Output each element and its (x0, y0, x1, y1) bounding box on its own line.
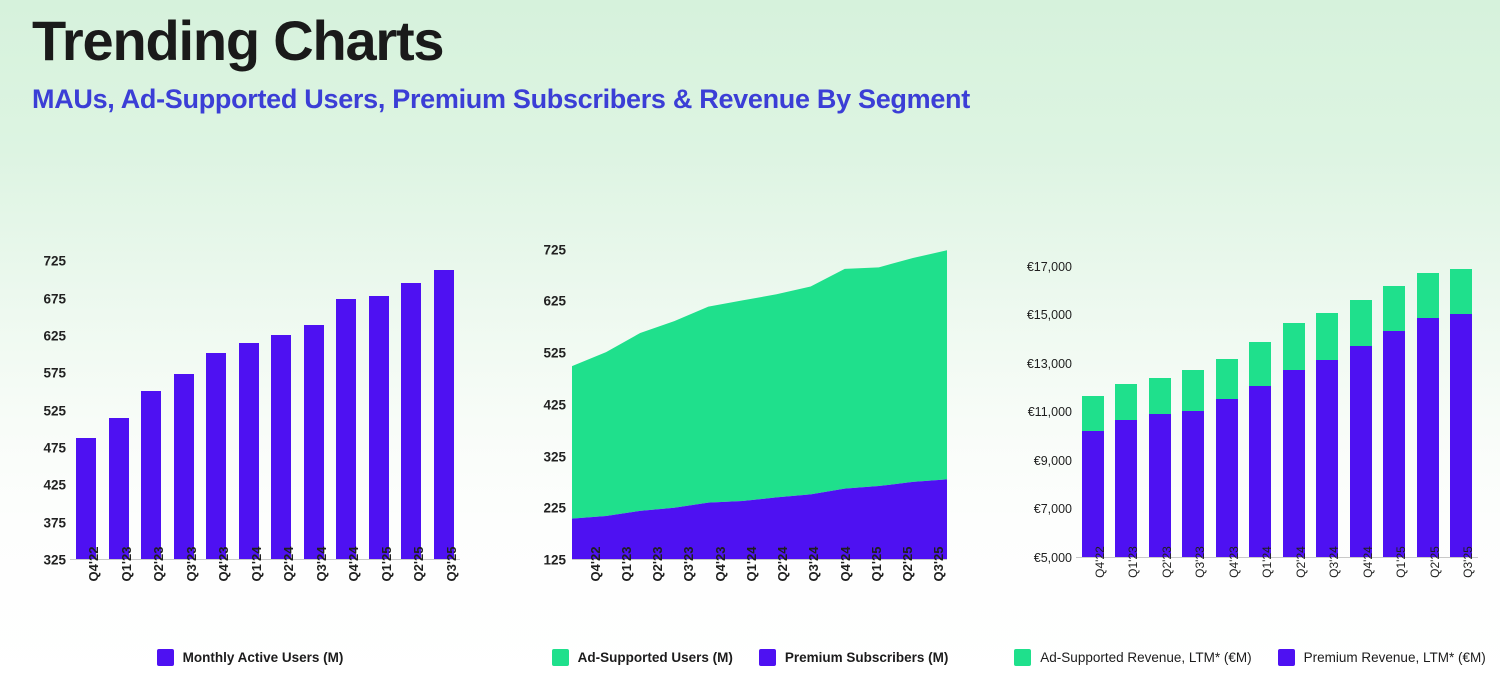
x-tick-slot: Q4'23 (200, 562, 233, 620)
x-tick-label: Q4'24 (1361, 546, 1375, 578)
bar-segment-premium[interactable] (1350, 346, 1372, 558)
x-tick-label: Q2'24 (1294, 546, 1308, 578)
bar-segment-premium[interactable] (1417, 318, 1439, 558)
y-tick-label: 325 (543, 449, 566, 464)
x-tick-label: Q3'25 (931, 547, 946, 582)
stacked-bar[interactable] (1417, 273, 1439, 558)
bar-segment-ad-supported[interactable] (1450, 269, 1472, 315)
page-subtitle: MAUs, Ad-Supported Users, Premium Subscr… (32, 83, 1500, 115)
bar-slot[interactable] (298, 250, 331, 560)
bar-segment-premium[interactable] (1450, 314, 1472, 558)
bar-slot[interactable] (330, 250, 363, 560)
x-tick-label: Q4'22 (86, 547, 101, 582)
y-tick-label: 675 (43, 291, 66, 306)
x-tick-label: Q2'23 (650, 547, 665, 582)
x-tick-label: Q1'25 (379, 547, 394, 582)
bar-segment-premium[interactable] (1249, 386, 1271, 558)
y-tick-label: €13,000 (1027, 357, 1072, 371)
stacked-bar[interactable] (1316, 313, 1338, 558)
bar-slot[interactable] (168, 250, 201, 560)
bar-slot[interactable] (200, 250, 233, 560)
legend-label: Premium Revenue, LTM* (€M) (1304, 650, 1486, 665)
bar-segment-premium[interactable] (1082, 431, 1104, 559)
x-tick-label: Q1'24 (249, 547, 264, 582)
y-tick-label: 625 (43, 328, 66, 343)
bar-slot[interactable] (428, 250, 461, 560)
plot-area-users (572, 242, 947, 560)
y-tick-label: 525 (543, 346, 566, 361)
bar[interactable] (206, 353, 226, 560)
x-tick-slot: Q3'25 (1445, 560, 1479, 618)
x-tick-slot: Q4'22 (572, 562, 603, 620)
x-tick-slot: Q2'24 (1277, 560, 1311, 618)
legend-swatch-icon (552, 649, 569, 666)
x-tick-label: Q3'24 (806, 547, 821, 582)
bar-slot[interactable] (1277, 252, 1311, 558)
legend-swatch-icon (157, 649, 174, 666)
x-tick-slot: Q2'23 (135, 562, 168, 620)
bar-slot[interactable] (233, 250, 266, 560)
x-tick-label: Q2'25 (900, 547, 915, 582)
bar-segment-ad-supported[interactable] (1316, 313, 1338, 360)
x-tick-slot: Q3'24 (791, 562, 822, 620)
y-tick-label: 425 (543, 397, 566, 412)
bar-slot[interactable] (1311, 252, 1345, 558)
bar[interactable] (239, 343, 259, 560)
x-tick-label: Q2'25 (1428, 546, 1442, 578)
x-tick-slot: Q2'23 (1143, 560, 1177, 618)
x-tick-label: Q4'23 (1227, 546, 1241, 578)
x-tick-label: Q1'24 (1260, 546, 1274, 578)
x-tick-slot: Q3'23 (168, 562, 201, 620)
x-tick-slot: Q2'24 (265, 562, 298, 620)
legend-swatch-icon (759, 649, 776, 666)
bar[interactable] (271, 335, 291, 560)
chart-mau: 325375425475525575625675725 Q4'22Q1'23Q2… (0, 228, 500, 684)
x-tick-label: Q1'24 (744, 547, 759, 582)
bar-slot[interactable] (363, 250, 396, 560)
legend-item[interactable]: Premium Subscribers (M) (759, 649, 949, 666)
x-tick-label: Q2'24 (281, 547, 296, 582)
bar-segment-premium[interactable] (1283, 370, 1305, 558)
x-tick-label: Q3'23 (184, 547, 199, 582)
x-tick-slot: Q3'23 (666, 562, 697, 620)
x-tick-label: Q1'25 (1394, 546, 1408, 578)
x-tick-label: Q1'23 (619, 547, 634, 582)
bar-segment-ad-supported[interactable] (1283, 323, 1305, 370)
x-tick-slot: Q1'23 (1110, 560, 1144, 618)
y-axis-mau: 325375425475525575625675725 (10, 250, 66, 560)
y-tick-label: €17,000 (1027, 260, 1072, 274)
x-tick-slot: Q1'25 (363, 562, 396, 620)
x-tick-slot: Q1'25 (1378, 560, 1412, 618)
area-series-svg (572, 242, 947, 560)
plot-area-revenue (1076, 252, 1478, 558)
legend-label: Ad-Supported Users (M) (578, 650, 733, 665)
x-tick-slot: Q2'24 (760, 562, 791, 620)
stacked-bar[interactable] (1383, 286, 1405, 558)
y-tick-label: 125 (543, 553, 566, 568)
x-tick-slot: Q4'23 (1210, 560, 1244, 618)
x-tick-slot: Q2'25 (395, 562, 428, 620)
stacked-bar[interactable] (1149, 378, 1171, 558)
y-axis-users: 125225325425525625725 (510, 242, 566, 560)
y-tick-label: €9,000 (1034, 454, 1072, 468)
legend-label: Ad-Supported Revenue, LTM* (€M) (1040, 650, 1251, 665)
y-tick-label: 225 (543, 501, 566, 516)
x-axis-labels-mau: Q4'22Q1'23Q2'23Q3'23Q4'23Q1'24Q2'24Q3'24… (70, 562, 460, 620)
x-tick-slot: Q1'23 (603, 562, 634, 620)
x-tick-label: Q1'23 (119, 547, 134, 582)
x-tick-slot: Q2'25 (885, 562, 916, 620)
bar-segment-ad-supported[interactable] (1417, 273, 1439, 318)
bar[interactable] (141, 391, 161, 560)
bar[interactable] (109, 418, 129, 560)
x-tick-slot: Q1'24 (728, 562, 759, 620)
stacked-bar[interactable] (1350, 300, 1372, 558)
y-tick-label: €15,000 (1027, 308, 1072, 322)
bar-slot[interactable] (103, 250, 136, 560)
y-tick-label: 325 (43, 553, 66, 568)
bar-slot[interactable] (1378, 252, 1412, 558)
x-tick-label: Q4'23 (713, 547, 728, 582)
bar-segment-ad-supported[interactable] (1115, 384, 1137, 419)
legend-label: Premium Subscribers (M) (785, 650, 949, 665)
bar-slot[interactable] (70, 250, 103, 560)
bar-segment-premium[interactable] (1182, 411, 1204, 558)
page-header: Trending Charts MAUs, Ad-Supported Users… (0, 0, 1500, 115)
bar[interactable] (336, 299, 356, 560)
bar-slot[interactable] (1244, 252, 1278, 558)
legend-mau: Monthly Active Users (M) (0, 649, 500, 666)
bar-slot[interactable] (1210, 252, 1244, 558)
bar-slot[interactable] (1344, 252, 1378, 558)
x-tick-slot: Q3'24 (1311, 560, 1345, 618)
x-tick-slot: Q1'25 (853, 562, 884, 620)
x-tick-slot: Q2'23 (635, 562, 666, 620)
charts-row: 325375425475525575625675725 Q4'22Q1'23Q2… (0, 228, 1500, 684)
bar-segment-ad-supported[interactable] (1249, 342, 1271, 386)
bar-slot[interactable] (1143, 252, 1177, 558)
bar[interactable] (174, 374, 194, 560)
y-tick-label: 725 (43, 254, 66, 269)
bar-slot[interactable] (135, 250, 168, 560)
x-tick-label: Q3'25 (444, 547, 459, 582)
bar-segment-premium[interactable] (1216, 399, 1238, 558)
legend-users: Ad-Supported Users (M)Premium Subscriber… (500, 649, 1000, 666)
x-tick-slot: Q3'24 (298, 562, 331, 620)
x-tick-label: Q4'22 (588, 547, 603, 582)
bar-segment-premium[interactable] (1383, 331, 1405, 558)
bar-segment-premium[interactable] (1115, 420, 1137, 558)
x-tick-slot: Q3'25 (916, 562, 947, 620)
x-tick-label: Q2'23 (1160, 546, 1174, 578)
legend-label: Monthly Active Users (M) (183, 650, 344, 665)
page-title: Trending Charts (32, 10, 1500, 73)
x-tick-label: Q4'23 (216, 547, 231, 582)
bar-segment-ad-supported[interactable] (1350, 300, 1372, 346)
legend-item[interactable]: Monthly Active Users (M) (157, 649, 344, 666)
bar-slot[interactable] (1445, 252, 1479, 558)
legend-item[interactable]: Premium Revenue, LTM* (€M) (1278, 649, 1486, 666)
bar-slot[interactable] (1110, 252, 1144, 558)
x-tick-label: Q2'23 (151, 547, 166, 582)
legend-item[interactable]: Ad-Supported Revenue, LTM* (€M) (1014, 649, 1251, 666)
y-tick-label: 525 (43, 403, 66, 418)
x-tick-label: Q2'24 (775, 547, 790, 582)
y-tick-label: €5,000 (1034, 551, 1072, 565)
bar[interactable] (401, 283, 421, 560)
y-axis-revenue: €5,000€7,000€9,000€11,000€13,000€15,000€… (1000, 252, 1072, 558)
stacked-bar[interactable] (1249, 342, 1271, 558)
x-tick-label: Q3'23 (681, 547, 696, 582)
x-tick-label: Q2'25 (411, 547, 426, 582)
x-tick-label: Q4'22 (1093, 546, 1107, 578)
chart-users-area: 125225325425525625725 Q4'22Q1'23Q2'23Q3'… (500, 228, 1000, 684)
legend-swatch-icon (1014, 649, 1031, 666)
y-tick-label: 475 (43, 440, 66, 455)
bar-segment-ad-supported[interactable] (1149, 378, 1171, 414)
x-tick-slot: Q3'25 (428, 562, 461, 620)
bar-slot[interactable] (1177, 252, 1211, 558)
stacked-bar[interactable] (1283, 323, 1305, 558)
x-axis-labels-users: Q4'22Q1'23Q2'23Q3'23Q4'23Q1'24Q2'24Q3'24… (572, 562, 947, 620)
x-tick-slot: Q2'25 (1411, 560, 1445, 618)
x-tick-label: Q4'24 (838, 547, 853, 582)
x-tick-slot: Q4'22 (1076, 560, 1110, 618)
bar[interactable] (304, 325, 324, 560)
x-tick-slot: Q1'24 (233, 562, 266, 620)
bar[interactable] (434, 270, 454, 560)
stacked-bar[interactable] (1216, 359, 1238, 558)
y-tick-label: 725 (543, 242, 566, 257)
x-tick-slot: Q4'24 (822, 562, 853, 620)
y-tick-label: 375 (43, 515, 66, 530)
y-tick-label: €7,000 (1034, 502, 1072, 516)
bar-segment-premium[interactable] (1316, 360, 1338, 558)
stacked-bar[interactable] (1115, 384, 1137, 558)
x-tick-slot: Q1'24 (1244, 560, 1278, 618)
bar-segment-premium[interactable] (1149, 414, 1171, 558)
x-tick-slot: Q3'23 (1177, 560, 1211, 618)
stacked-bar[interactable] (1450, 269, 1472, 558)
legend-item[interactable]: Ad-Supported Users (M) (552, 649, 733, 666)
y-tick-label: 575 (43, 366, 66, 381)
x-tick-label: Q1'23 (1126, 546, 1140, 578)
y-tick-label: €11,000 (1028, 405, 1072, 419)
bar-segment-ad-supported[interactable] (1383, 286, 1405, 331)
x-tick-slot: Q4'24 (1344, 560, 1378, 618)
bar-segment-ad-supported[interactable] (1182, 370, 1204, 411)
stacked-bar[interactable] (1182, 370, 1204, 558)
legend-swatch-icon (1278, 649, 1295, 666)
y-tick-label: 625 (543, 294, 566, 309)
x-tick-slot: Q4'24 (330, 562, 363, 620)
bar-segment-ad-supported[interactable] (1216, 359, 1238, 398)
x-tick-slot: Q1'23 (103, 562, 136, 620)
x-tick-label: Q3'25 (1461, 546, 1475, 578)
stacked-bar[interactable] (1082, 396, 1104, 558)
bar-slot[interactable] (1076, 252, 1110, 558)
y-tick-label: 425 (43, 478, 66, 493)
x-tick-slot: Q4'22 (70, 562, 103, 620)
x-tick-label: Q3'24 (1327, 546, 1341, 578)
area-ad-supported-users[interactable] (572, 250, 947, 518)
bar-slot[interactable] (1411, 252, 1445, 558)
bar-segment-ad-supported[interactable] (1082, 396, 1104, 430)
bar-slot[interactable] (395, 250, 428, 560)
chart-revenue: €5,000€7,000€9,000€11,000€13,000€15,000€… (1000, 228, 1500, 684)
legend-revenue: Ad-Supported Revenue, LTM* (€M)Premium R… (1000, 649, 1500, 666)
x-tick-label: Q3'23 (1193, 546, 1207, 578)
x-tick-slot: Q4'23 (697, 562, 728, 620)
x-axis-labels-revenue: Q4'22Q1'23Q2'23Q3'23Q4'23Q1'24Q2'24Q3'24… (1076, 560, 1478, 618)
plot-area-mau (70, 250, 460, 560)
bar[interactable] (76, 438, 96, 561)
x-tick-label: Q3'24 (314, 547, 329, 582)
x-tick-label: Q1'25 (869, 547, 884, 582)
bar-slot[interactable] (265, 250, 298, 560)
x-tick-label: Q4'24 (346, 547, 361, 582)
bar[interactable] (369, 296, 389, 560)
